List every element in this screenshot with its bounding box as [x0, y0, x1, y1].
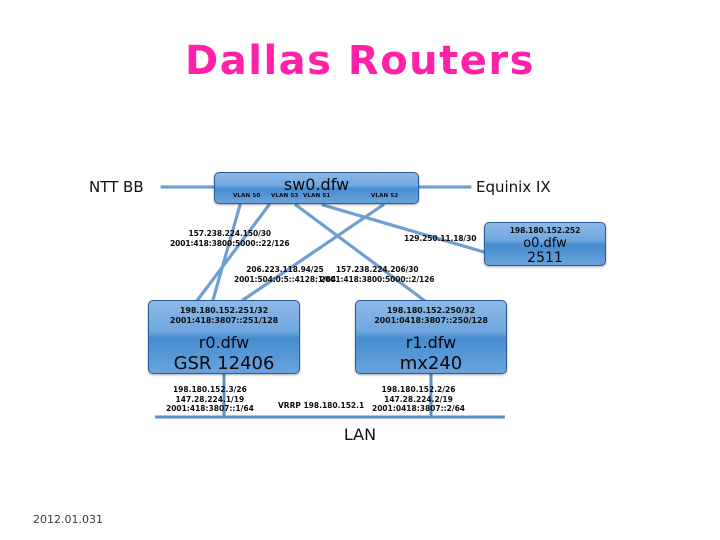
edge-label-ntt-uplink: 157.238.224.150/30 2001:418:3800:5000::2…	[170, 229, 290, 248]
edge-label-ntt-uplink-v6: 2001:418:3800:5000::22/126	[170, 239, 290, 249]
vlan-port-row: VLAN 50 VLAN 53 VLAN 51 VLAN 52	[215, 193, 418, 202]
page-title: Dallas Routers	[0, 38, 720, 84]
edge-label-transit-v4: 157.238.224.206/30	[320, 265, 434, 275]
link-vlan50-to-r0	[213, 205, 240, 300]
node-r1-hostname: r1.dfw	[356, 325, 506, 353]
lan-r1-v6: 2001:0418:3807::2/64	[372, 404, 465, 414]
edge-label-transit-v6: 2001:418:3800:5000::2/126	[320, 275, 434, 285]
link-vlan51-to-r1	[296, 205, 425, 301]
lan-r1-v4-a: 198.180.152.2/26	[372, 385, 465, 395]
node-r1-address-v6: 2001:0418:3807::250/128	[356, 316, 506, 326]
lan-addresses-r1: 198.180.152.2/26 147.28.224.2/19 2001:04…	[372, 385, 465, 414]
label-vrrp-address: VRRP 198.180.152.1	[278, 401, 364, 410]
label-lan: LAN	[0, 425, 720, 444]
label-equinix-ix: Equinix IX	[476, 178, 551, 196]
edge-label-transit: 157.238.224.206/30 2001:418:3800:5000::2…	[320, 265, 434, 284]
vlan-port-52[interactable]: VLAN 52	[371, 193, 398, 199]
node-r0-dfw[interactable]: 198.180.152.251/32 2001:418:3807::251/12…	[148, 300, 300, 374]
slide-canvas: Dallas Routers sw0.dfw VLA	[0, 0, 720, 540]
lan-r1-v4-b: 147.28.224.2/19	[372, 395, 465, 405]
link-vlan53-to-r0	[196, 205, 269, 302]
node-r1-model: mx240	[356, 353, 506, 374]
node-r1-dfw[interactable]: 198.180.152.250/32 2001:0418:3807::250/1…	[355, 300, 507, 374]
node-r0-address-v4: 198.180.152.251/32	[149, 306, 299, 316]
edge-label-equinix-ix: 129.250.11.18/30	[404, 234, 476, 244]
slide-footer-date: 2012.01.031	[33, 513, 103, 526]
link-vlan52-to-r0	[243, 205, 383, 300]
lan-r0-v4-a: 198.180.152.3/26	[166, 385, 254, 395]
vlan-port-53[interactable]: VLAN 53	[271, 193, 298, 199]
node-o0-hostname: o0.dfw	[485, 236, 605, 251]
node-r0-hostname: r0.dfw	[149, 325, 299, 353]
vlan-port-50[interactable]: VLAN 50	[233, 193, 260, 199]
edge-label-ntt-uplink-v4: 157.238.224.150/30	[170, 229, 290, 239]
lan-r0-v4-b: 147.28.224.1/19	[166, 395, 254, 405]
lan-addresses-r0: 198.180.152.3/26 147.28.224.1/19 2001:41…	[166, 385, 254, 414]
node-r0-model: GSR 12406	[149, 353, 299, 374]
lan-r0-v6: 2001:418:3807::1/64	[166, 404, 254, 414]
link-switch-to-o0	[323, 205, 484, 252]
node-o0-model: 2511	[485, 251, 605, 266]
node-sw0-hostname: sw0.dfw	[215, 173, 418, 193]
label-ntt-bb: NTT BB	[89, 178, 144, 196]
node-o0-address: 198.180.152.252	[485, 226, 605, 236]
vlan-port-51[interactable]: VLAN 51	[303, 193, 330, 199]
node-r1-address-v4: 198.180.152.250/32	[356, 306, 506, 316]
node-r0-address-v6: 2001:418:3807::251/128	[149, 316, 299, 326]
node-o0-dfw[interactable]: 198.180.152.252 o0.dfw 2511	[484, 222, 606, 266]
node-sw0-dfw[interactable]: sw0.dfw VLAN 50 VLAN 53 VLAN 51 VLAN 52	[214, 172, 419, 204]
